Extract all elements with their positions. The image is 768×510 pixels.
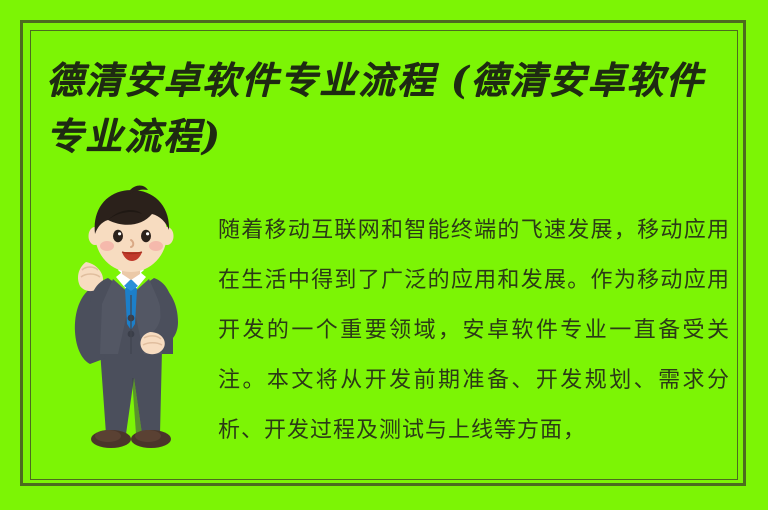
poster-canvas: 德清安卓软件专业流程 (德清安卓软件专业流程) 随着移动互联网和智能终端的飞速发… — [0, 0, 768, 510]
body-paragraph: 随着移动互联网和智能终端的飞速发展，移动应用在生活中得到了广泛的应用和发展。作为… — [218, 206, 730, 456]
businessman-illustration — [56, 182, 206, 474]
page-title: 德清安卓软件专业流程 (德清安卓软件专业流程) — [46, 52, 726, 164]
